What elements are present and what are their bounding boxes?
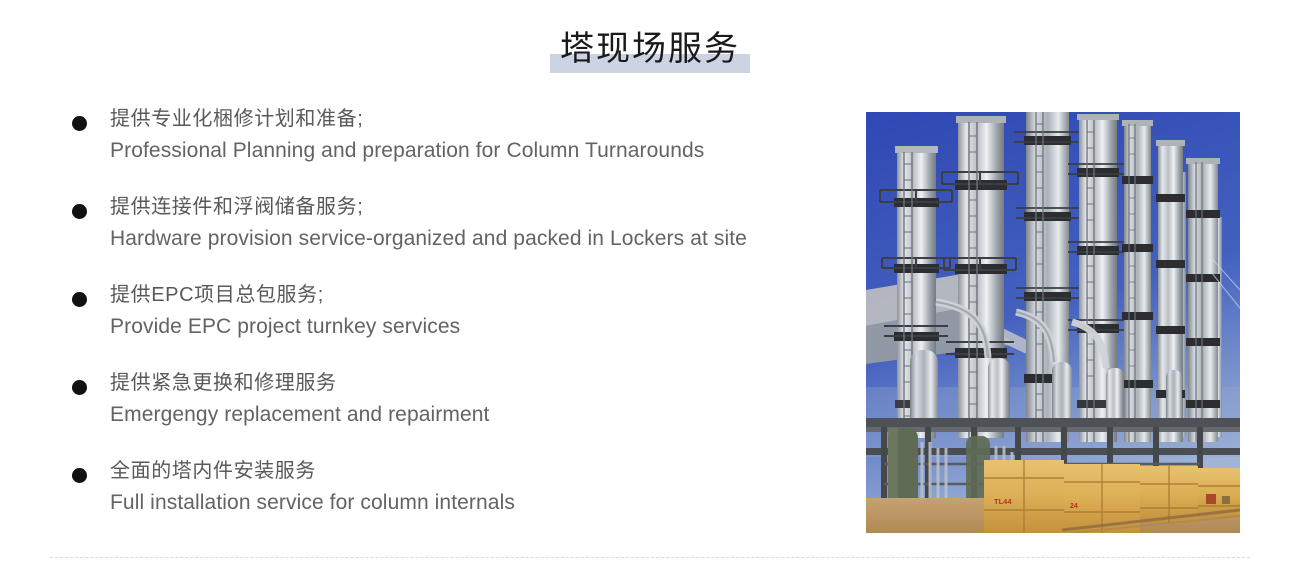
page-title: 塔现场服务 <box>556 32 744 66</box>
page-title-text: 塔现场服务 <box>560 30 740 68</box>
list-item-content: 提供EPC项目总包服务; Provide EPC project turnkey… <box>110 280 860 344</box>
list-item-label-en: Emergengy replacement and repairment <box>110 398 860 432</box>
list-item-label-en: Hardware provision service-organized and… <box>110 222 860 256</box>
list-item-label-en: Professional Planning and preparation fo… <box>110 134 860 168</box>
list-item-label-en: Provide EPC project turnkey services <box>110 310 860 344</box>
list-item: 提供EPC项目总包服务; Provide EPC project turnkey… <box>70 280 860 368</box>
list-item-content: 全面的塔内件安装服务 Full installation service for… <box>110 456 860 520</box>
svg-text:24: 24 <box>1070 503 1078 510</box>
list-item-label-cn: 提供EPC项目总包服务; <box>110 280 860 310</box>
list-item: 全面的塔内件安装服务 Full installation service for… <box>70 456 860 544</box>
bottom-divider <box>50 557 1250 558</box>
list-item-label-cn: 全面的塔内件安装服务 <box>110 456 860 486</box>
list-item-label-cn: 提供连接件和浮阀储备服务; <box>110 192 860 222</box>
list-item: 提供紧急更换和修理服务 Emergengy replacement and re… <box>70 368 860 456</box>
list-item-label-cn: 提供紧急更换和修理服务 <box>110 368 860 398</box>
list-item-label-en: Full installation service for column int… <box>110 486 860 520</box>
list-item-content: 提供连接件和浮阀储备服务; Hardware provision service… <box>110 192 860 256</box>
list-item-content: 提供专业化梱修计划和准备; Professional Planning and … <box>110 104 860 168</box>
bullet-dot-icon <box>72 380 87 395</box>
page-header: 塔现场服务 <box>0 0 1300 92</box>
list-item: 提供专业化梱修计划和准备; Professional Planning and … <box>70 104 860 192</box>
list-item-content: 提供紧急更换和修理服务 Emergengy replacement and re… <box>110 368 860 432</box>
bullet-dot-icon <box>72 116 87 131</box>
service-list: 提供专业化梱修计划和准备; Professional Planning and … <box>70 104 860 544</box>
bullet-dot-icon <box>72 468 87 483</box>
bullet-dot-icon <box>72 292 87 307</box>
list-item-label-cn: 提供专业化梱修计划和准备; <box>110 104 860 134</box>
svg-text:TL44: TL44 <box>994 497 1012 506</box>
list-item: 提供连接件和浮阀储备服务; Hardware provision service… <box>70 192 860 280</box>
bullet-dot-icon <box>72 204 87 219</box>
distillation-columns-photo: TL44 24 <box>866 112 1240 533</box>
